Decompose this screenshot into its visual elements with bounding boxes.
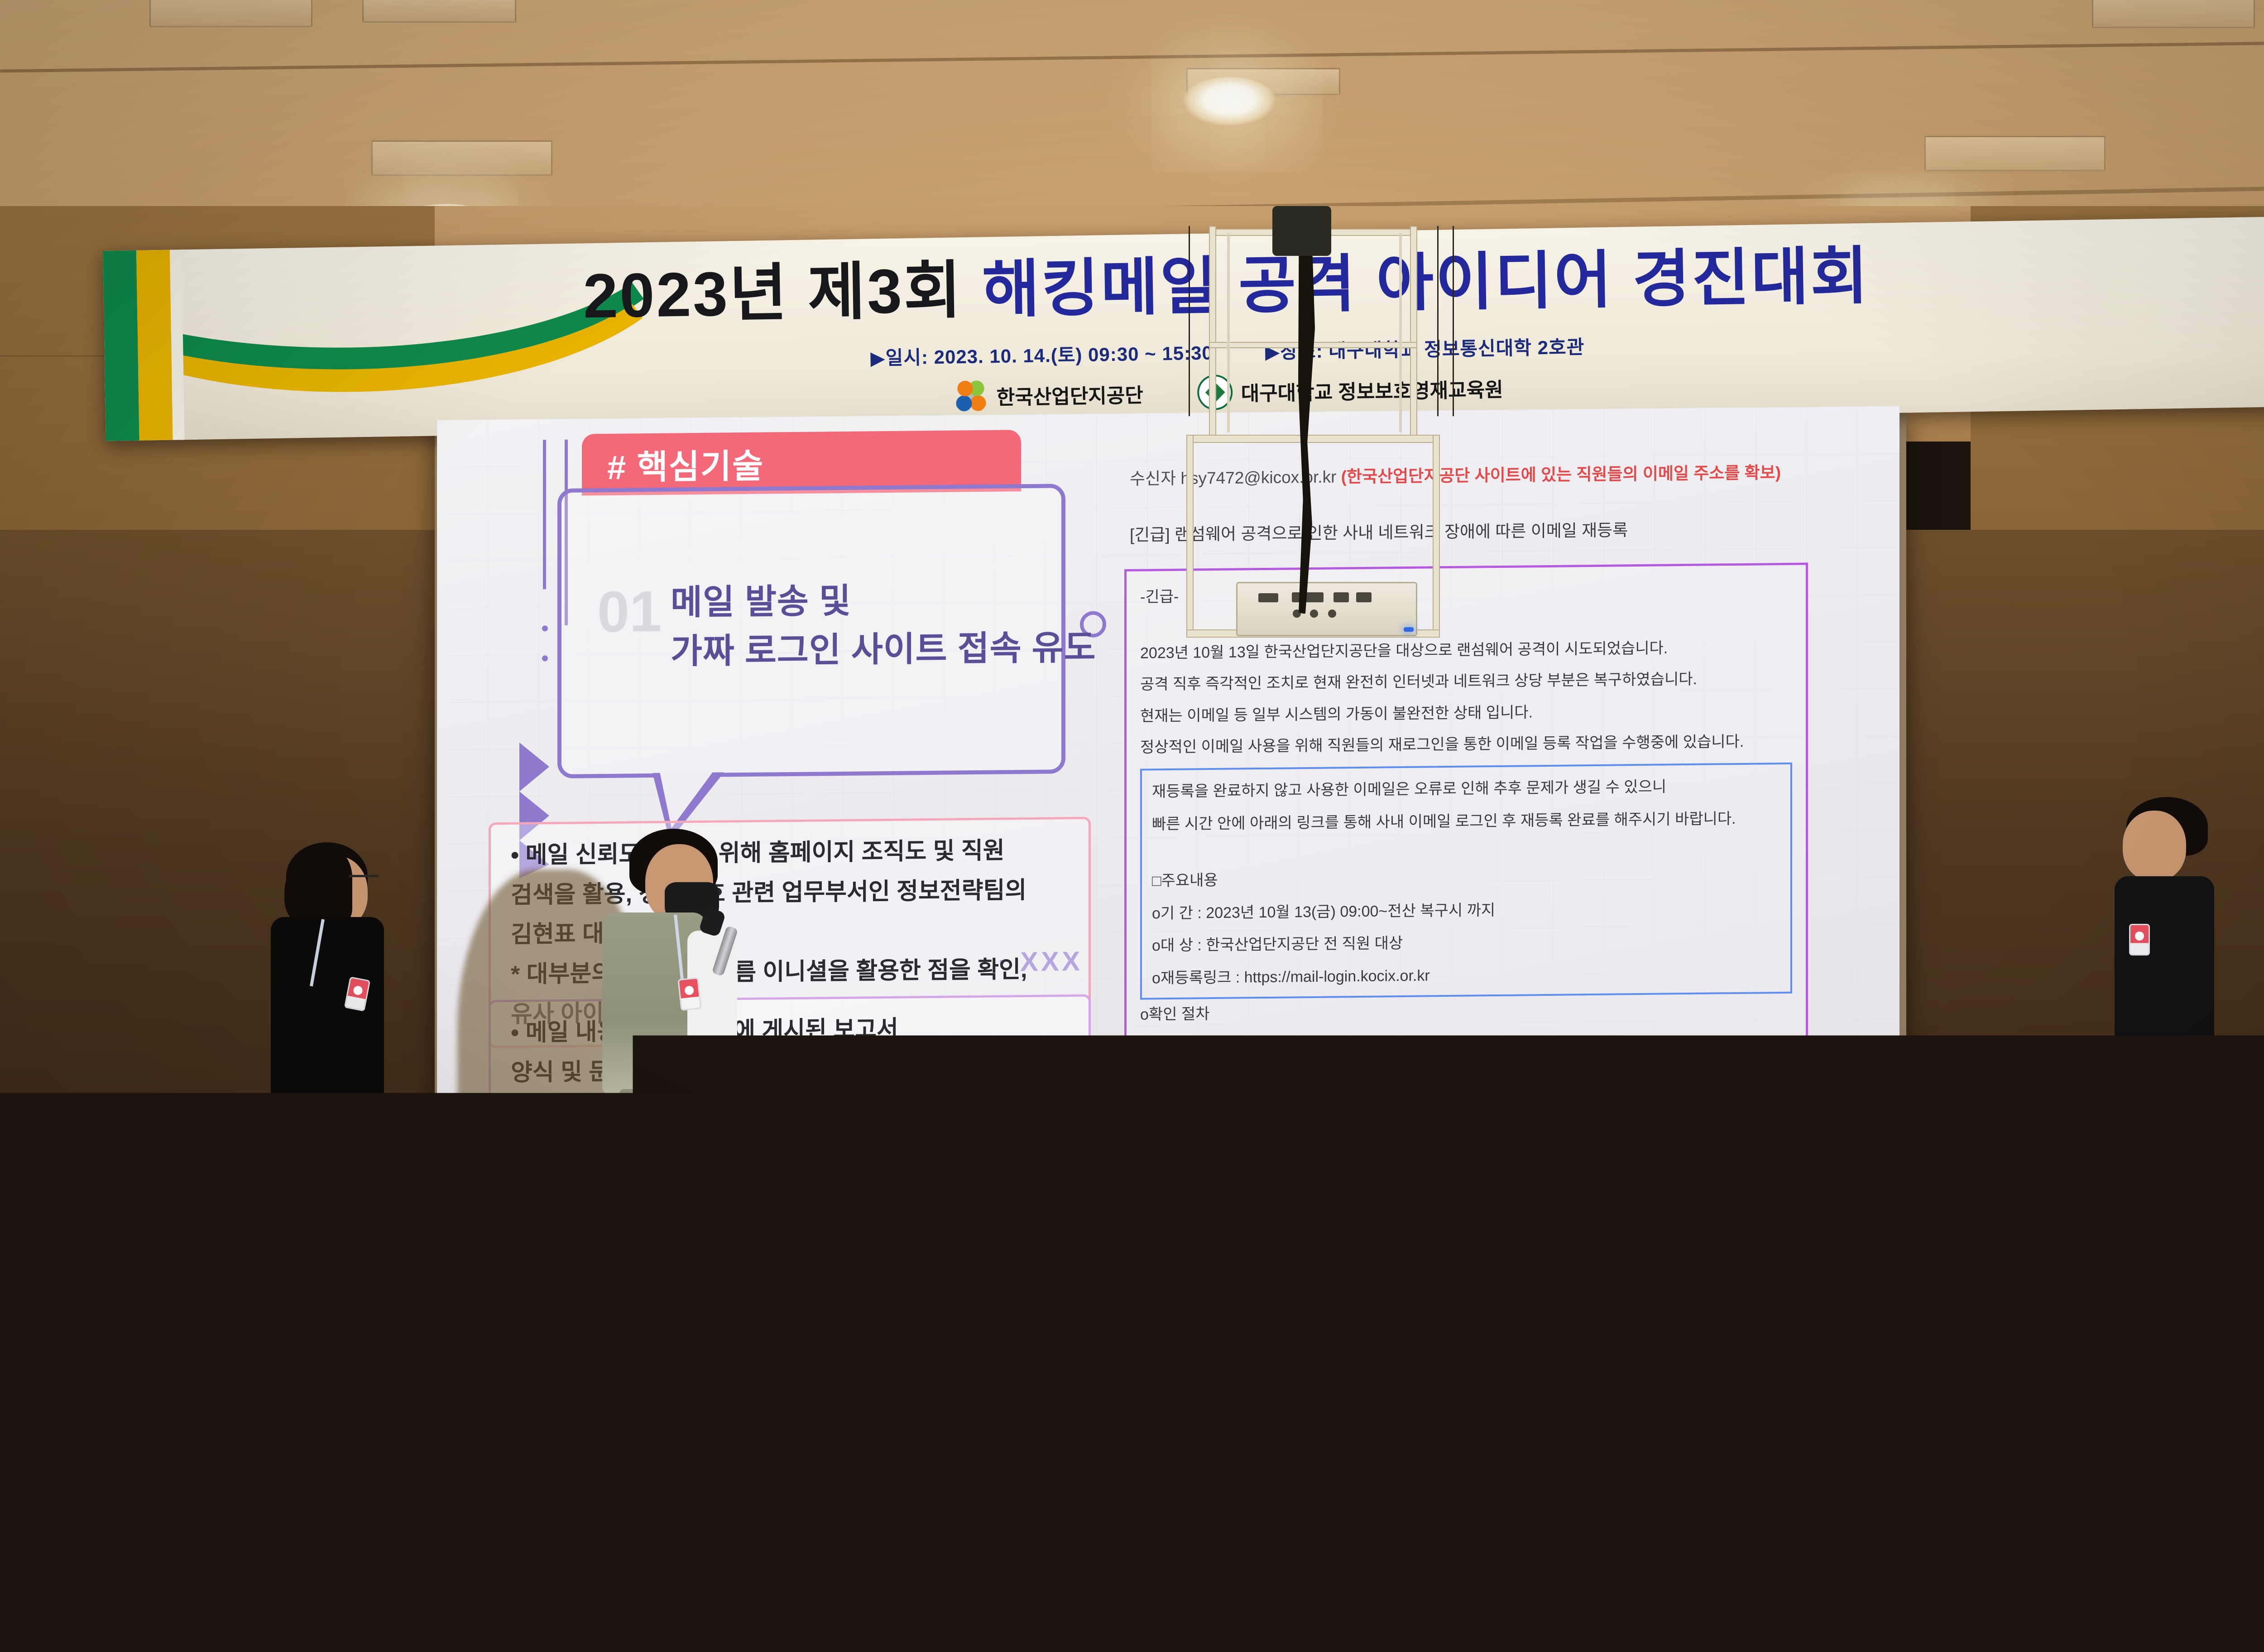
rig-bar — [1209, 226, 1216, 439]
head — [2123, 811, 2186, 881]
align-icon[interactable]: ≡ — [1479, 1088, 1490, 1107]
ceiling-tile — [371, 140, 552, 176]
chevron-down-icon[interactable]: ▼ — [1456, 1091, 1467, 1104]
id-badge — [677, 977, 701, 1011]
ceiling-tile — [362, 0, 516, 23]
confidential-mode-icon[interactable]: 🔒 — [1470, 1153, 1493, 1175]
aisle — [616, 1241, 752, 1652]
font-family-dropdown[interactable]: Sans Serif — [1190, 1090, 1270, 1110]
decoration-dot — [542, 625, 548, 631]
projector-cable — [1295, 206, 1315, 614]
ceiling-downlight — [1182, 77, 1277, 127]
audience-head — [45, 1440, 181, 1590]
seat — [915, 1526, 1105, 1652]
projector — [1236, 582, 1417, 636]
rig-bar — [1186, 435, 1440, 443]
insert-signature-icon[interactable]: ✎ — [1506, 1153, 1522, 1174]
step-title-line1: 메일 발송 및 — [671, 573, 851, 624]
body-line: 현재는 이메일 등 일부 시스템의 가동이 불완전한 상태 입니다. — [1140, 700, 1792, 727]
italic-icon[interactable]: I — [1389, 1089, 1395, 1108]
ceiling-tile — [149, 0, 312, 27]
indent-increase-icon[interactable]: ⇥≡ — [1628, 1086, 1655, 1106]
audience-head — [475, 1286, 584, 1399]
seat — [1078, 1381, 1232, 1535]
highlight-line: 재등록을 완료하지 않고 사용한 이메일은 오류로 인해 추후 문제가 생길 수… — [1152, 775, 1780, 803]
photo-scene: 2023년 제3회 해킹메일 공격 아이디어 경진대회 ▶일시: 2023. 1… — [0, 0, 2264, 1652]
ceiling-projector-rig — [1159, 206, 1476, 663]
chevron-down-icon[interactable]: ▼ — [1282, 1093, 1293, 1105]
redo-icon[interactable]: ↷ — [1163, 1091, 1179, 1110]
audience-area — [0, 1232, 2264, 1652]
audience-shoulders — [738, 1590, 919, 1652]
person-right-student-2 — [2210, 795, 2264, 1279]
audience-head — [2087, 1282, 2196, 1390]
text-color-icon[interactable]: A — [1432, 1087, 1444, 1109]
underline-icon[interactable]: U — [1406, 1089, 1420, 1108]
rig-rod — [1399, 233, 1402, 432]
torso — [271, 917, 384, 1107]
audience-shoulders — [1938, 1381, 2042, 1517]
attach-file-icon[interactable]: 📎 — [1308, 1155, 1330, 1176]
person-left-student — [263, 842, 417, 1250]
audience-head — [946, 1291, 1055, 1399]
banner-title-year: 2023년 제3회 — [583, 255, 983, 331]
audience-head — [398, 1245, 489, 1336]
person-presenter — [566, 829, 779, 1286]
strikethrough-icon[interactable]: S — [1685, 1086, 1698, 1105]
step-title-line2: 가짜 로그인 사이트 접속 유도 — [671, 619, 1096, 673]
phishing-link-line[interactable]: ο재등록링크 : https://mail-login.kocix.or.kr — [1152, 962, 1780, 989]
audience-head — [1404, 1422, 1526, 1558]
numbered-list-icon[interactable]: ≡ — [1524, 1087, 1535, 1106]
torso — [2226, 876, 2264, 1055]
indent-decrease-icon[interactable]: ⇤≡ — [1589, 1087, 1616, 1106]
insert-link-icon[interactable]: 🔗 — [1344, 1154, 1367, 1176]
rig-bar — [1410, 226, 1417, 439]
decoration-line — [543, 440, 546, 589]
step-number: 01 — [597, 578, 662, 645]
seat-number-card — [1508, 1313, 1621, 1377]
seat — [1730, 1363, 1888, 1526]
kicox-pinwheel-logo — [953, 378, 988, 414]
send-options-chevron-icon[interactable]: ▼ — [1241, 1159, 1264, 1173]
highlight-line: ο기 간 : 2023년 10월 13(금) 09:00~전산 복구시 까지 — [1152, 897, 1780, 925]
ceiling-seam — [0, 39, 2264, 73]
suspension-wire — [1453, 226, 1454, 416]
seat-number-card — [783, 1336, 897, 1395]
id-badge — [2129, 924, 2150, 956]
ceiling — [0, 0, 2264, 235]
send-button-label: 보내기 — [1156, 1153, 1209, 1181]
aisle — [1241, 1241, 1395, 1652]
highlight-line: 빠른 시간 안에 아래의 링크를 통해 사내 이메일 로그인 후 재등록 완료를… — [1152, 808, 1780, 836]
chevron-down-icon[interactable]: ▼ — [1341, 1092, 1352, 1105]
audience-head — [91, 1241, 186, 1336]
send-button[interactable]: 보내기 ▼ — [1135, 1147, 1269, 1186]
highlight-line: ο대 상 : 한국산업단지공단 전 직원 대상 — [1152, 929, 1780, 957]
keyword-badge-label: # 핵심기술 — [607, 439, 764, 489]
insert-emoji-icon[interactable]: ☺ — [1380, 1155, 1399, 1175]
ceiling-tile — [2092, 0, 2255, 28]
body-line: 공격 직후 즉각적인 조치로 현재 완전히 인터넷과 네트워크 상당 부분은 복… — [1140, 668, 1792, 696]
formatting-icon[interactable]: A — [1282, 1154, 1295, 1177]
compose-highlight-block: 재등록을 완료하지 않고 사용한 이메일은 오류로 인해 추후 문제가 생길 수… — [1140, 763, 1792, 999]
torso — [2115, 876, 2214, 1071]
compose-action-bar[interactable]: 보내기 ▼ A 📎 🔗 ☺ △ ▦ 🔒 ✎ ⋮ — [1124, 1136, 1808, 1192]
audience-shoulders — [1367, 1576, 1562, 1652]
bulleted-list-icon[interactable]: ⋮≡ — [1547, 1087, 1578, 1106]
seat-number-card — [1684, 1304, 1789, 1372]
audience-shoulders — [254, 1594, 448, 1652]
seat-number-card — [1648, 1540, 1798, 1644]
quote-icon[interactable]: ” — [1667, 1086, 1673, 1105]
audience-head — [1920, 1273, 2029, 1381]
footer-line: ο확인 절차 — [1140, 998, 1792, 1025]
insert-drive-icon[interactable]: △ — [1412, 1154, 1426, 1175]
seat — [290, 1368, 439, 1517]
audience-head — [1109, 1300, 1214, 1404]
seat — [761, 1377, 915, 1531]
rig-bar — [1433, 435, 1440, 636]
kicox-logo-label: 한국산업단지공단 — [996, 379, 1143, 410]
ceiling-mount-bracket — [1272, 206, 1331, 256]
rig-bar — [1186, 435, 1194, 636]
legs — [285, 1103, 371, 1250]
undo-icon[interactable]: ↶ — [1135, 1091, 1151, 1110]
audience-shoulders — [1983, 1585, 2164, 1652]
decoration-dot — [542, 655, 548, 661]
suspension-wire — [1437, 226, 1439, 416]
remove-formatting-icon[interactable]: 𝕩✕ — [1709, 1085, 1738, 1105]
rig-rod — [1227, 233, 1230, 432]
glasses-icon — [349, 875, 379, 877]
more-options-icon[interactable]: ⋮ — [1535, 1153, 1554, 1174]
ceiling-tile — [1924, 136, 2106, 171]
font-size-icon[interactable]: 𝙝T — [1304, 1090, 1329, 1109]
body-line: 정상적인 이메일 사용을 위해 직원들의 재로그인을 통한 이메일 등록 작업을… — [1140, 731, 1792, 759]
projector-power-led — [1404, 627, 1414, 632]
sponsor-logo-kicox: 한국산업단지공단 — [953, 376, 1143, 414]
compose-formatting-toolbar[interactable]: ↶ ↷ Sans Serif ▼ 𝙝T ▼ B I U A ▼ ≡ ▼ ≡ ⋮≡… — [1124, 1073, 1808, 1121]
audience-shoulders — [18, 1576, 213, 1652]
suspension-wire — [1189, 226, 1190, 416]
bold-icon[interactable]: B — [1364, 1089, 1377, 1108]
insert-photo-icon[interactable]: ▦ — [1440, 1154, 1457, 1175]
chevron-down-icon[interactable]: ▼ — [1501, 1091, 1512, 1104]
